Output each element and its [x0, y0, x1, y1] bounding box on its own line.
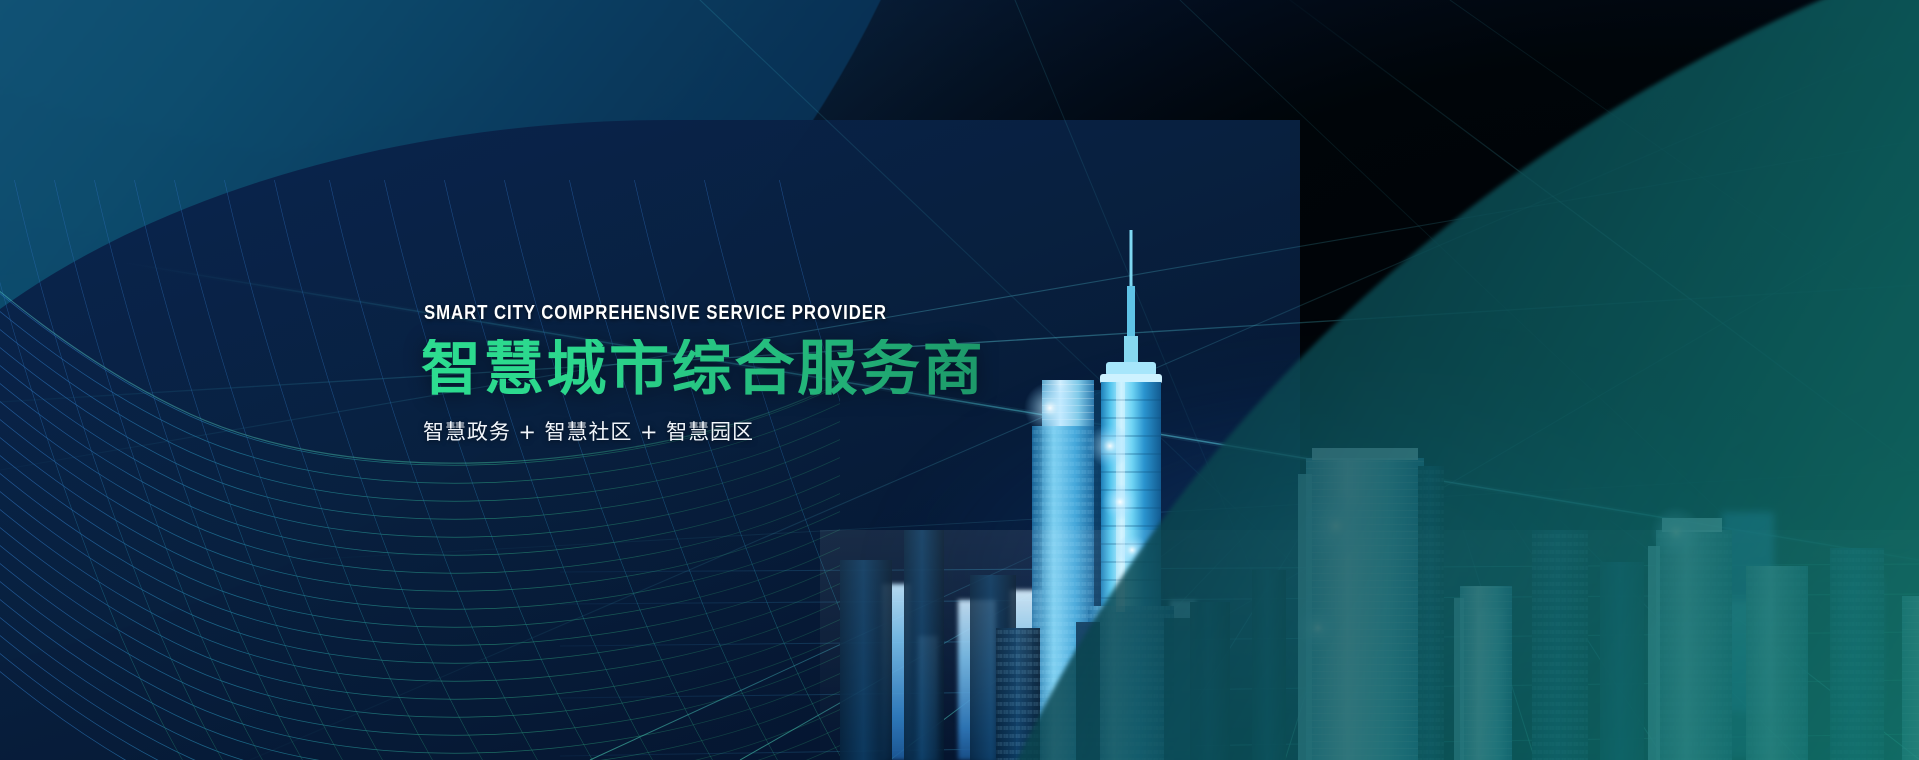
- hero-copy-block: SMART CITY COMPREHENSIVE SERVICE PROVIDE…: [421, 303, 1181, 443]
- hero-tagline-services: 智慧政务 + 智慧社区 + 智慧园区: [423, 422, 1181, 443]
- smart-city-hero-banner: SMART CITY COMPREHENSIVE SERVICE PROVIDE…: [0, 0, 1919, 760]
- hero-headline-chinese: 智慧城市综合服务商: [421, 339, 1181, 400]
- hero-eyebrow-english: SMART CITY COMPREHENSIVE SERVICE PROVIDE…: [424, 303, 1060, 323]
